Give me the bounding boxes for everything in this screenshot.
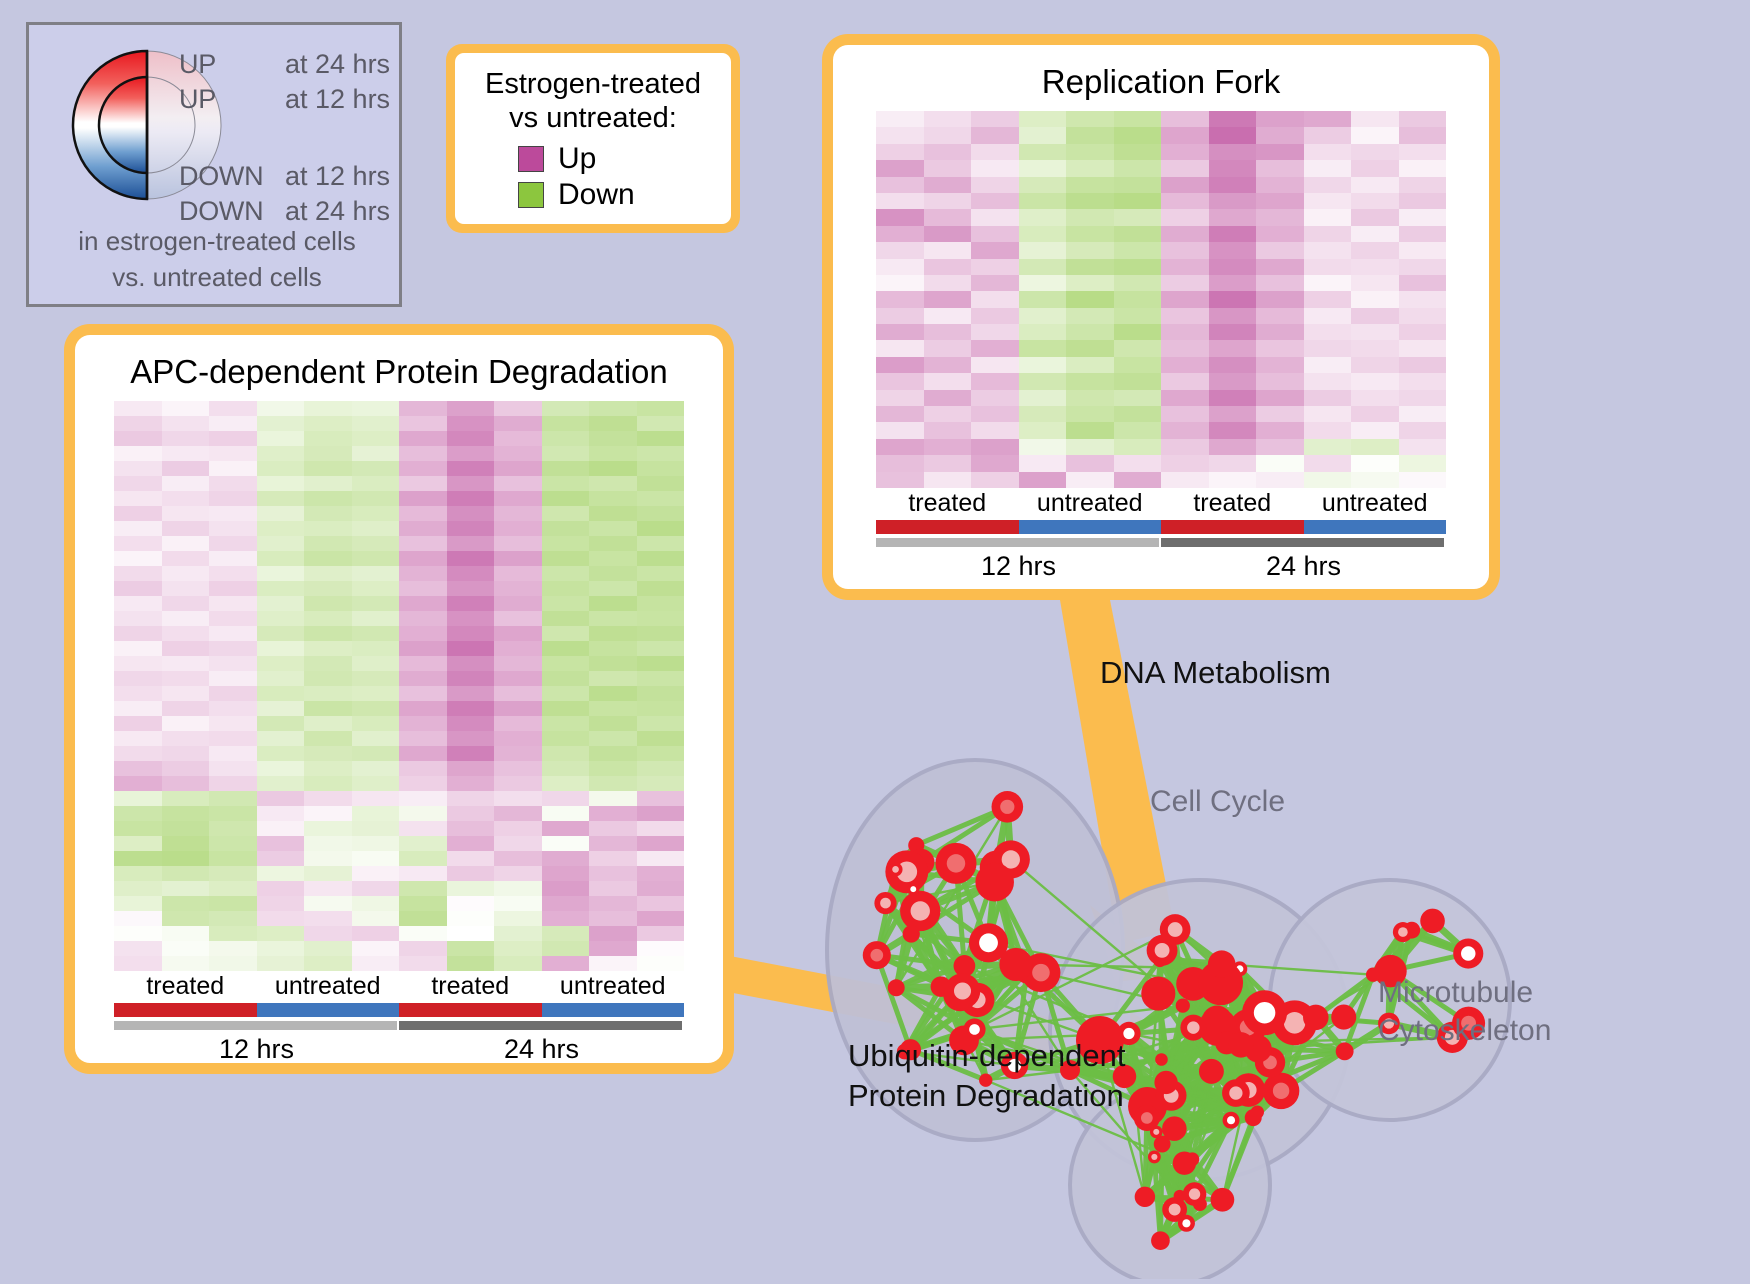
heatmap-cell (114, 881, 162, 896)
heatmap-cell (352, 551, 400, 566)
heatmap-cell (257, 581, 305, 596)
heatmap-cell (494, 926, 542, 941)
heatmap-cell (114, 446, 162, 461)
heatmap-cell (494, 716, 542, 731)
heatmap-cell (1114, 373, 1162, 389)
network-node-core (1000, 800, 1014, 814)
heatmap-cell (1304, 455, 1352, 471)
heatmap-cell (971, 160, 1019, 176)
heatmap-cell (352, 641, 400, 656)
heatmap-cell (114, 956, 162, 971)
heatmap-cell (447, 596, 495, 611)
heatmap-cell (637, 581, 685, 596)
heatmap-cell (1066, 308, 1114, 324)
heatmap-cell (1399, 422, 1447, 438)
heatmap-cell (1161, 259, 1209, 275)
heatmap-cell (304, 491, 352, 506)
heatmap-cell (1161, 291, 1209, 307)
heatmap-cell (304, 881, 352, 896)
network-node-core (969, 1024, 980, 1035)
heatmap-cell (876, 209, 924, 225)
time-label: 12 hrs (114, 1030, 399, 1068)
heatmap-cell (637, 431, 685, 446)
heatmap-cell (1399, 259, 1447, 275)
network-node (1228, 1032, 1254, 1058)
heatmap-cell (1114, 226, 1162, 242)
heatmap-cell (447, 941, 495, 956)
heatmap-cell (1209, 226, 1257, 242)
heatmap-cell (1256, 340, 1304, 356)
heatmap-cell (257, 551, 305, 566)
heatmap-cell (1209, 275, 1257, 291)
heatmap-cell (494, 731, 542, 746)
heatmap-cell (257, 746, 305, 761)
heatmap-cell (304, 671, 352, 686)
heatmap-cell (209, 746, 257, 761)
heatmap-cell (494, 566, 542, 581)
heatmap-cell (1399, 373, 1447, 389)
heatmap-cell (1256, 324, 1304, 340)
heatmap-cell (589, 431, 637, 446)
heatmap-cell (162, 671, 210, 686)
heatmap-cell (257, 431, 305, 446)
time-bar (876, 538, 1159, 547)
heatmap-cell (209, 926, 257, 941)
heatmap-cell (1161, 422, 1209, 438)
heatmap-cell (876, 308, 924, 324)
heatmap-cell (924, 422, 972, 438)
heatmap-cell (114, 671, 162, 686)
heatmap-cell (162, 416, 210, 431)
heatmap-cell (1161, 177, 1209, 193)
heatmap-cell (1304, 242, 1352, 258)
heatmap-cell (494, 671, 542, 686)
heatmap-cell (1114, 472, 1162, 488)
heatmap-cell (257, 641, 305, 656)
heatmap-cell (352, 716, 400, 731)
heatmap-cell (637, 551, 685, 566)
condition-label: treated (114, 971, 257, 1001)
heatmap-cell (1114, 324, 1162, 340)
heatmap-cell (399, 461, 447, 476)
heatmap-cell (162, 941, 210, 956)
heatmap-cell (162, 851, 210, 866)
network-node (1176, 998, 1190, 1012)
heatmap-cell (257, 521, 305, 536)
heatmap-cell (304, 551, 352, 566)
heatmap-cell (1304, 406, 1352, 422)
heatmap-cell (494, 686, 542, 701)
heatmap-cell (162, 746, 210, 761)
heatmap-cell (876, 275, 924, 291)
heatmap-cell (399, 686, 447, 701)
heatmap-cell (494, 776, 542, 791)
heatmap-cell (637, 521, 685, 536)
heatmap-cell (637, 866, 685, 881)
heatmap-cell (924, 259, 972, 275)
heatmap-cell (399, 851, 447, 866)
heatmap-cell (971, 193, 1019, 209)
heatmap-cell (1399, 177, 1447, 193)
heatmap-cell (589, 416, 637, 431)
heatmap-cell (209, 866, 257, 881)
heatmap-cell (352, 521, 400, 536)
heatmap-cell (162, 731, 210, 746)
heatmap-cell (542, 656, 590, 671)
time-bar (399, 1021, 682, 1030)
heatmap-cell (637, 911, 685, 926)
heatmap-cell (589, 926, 637, 941)
heatmap-cell (1351, 209, 1399, 225)
heatmap-block-apc: treateduntreatedtreateduntreated 12 hrs2… (114, 401, 684, 1068)
heatmap-cell (352, 791, 400, 806)
heatmap-cell (1256, 177, 1304, 193)
heatmap-cell (637, 791, 685, 806)
heatmap-cell (209, 401, 257, 416)
heatmap-cell (1399, 472, 1447, 488)
heatmap-cell (1114, 439, 1162, 455)
heatmap-cell (1256, 275, 1304, 291)
heatmap-cell (1351, 390, 1399, 406)
heatmap-cell (114, 461, 162, 476)
condition-bar-untreated (1304, 520, 1447, 534)
heatmap-cell (399, 836, 447, 851)
heatmap-cell (209, 851, 257, 866)
heatmap-block-replication: treateduntreatedtreateduntreated 12 hrs2… (876, 111, 1446, 585)
heatmap-cell (162, 491, 210, 506)
heatmap-cell (352, 806, 400, 821)
heatmap-cell (876, 259, 924, 275)
heatmap-cell (1399, 324, 1447, 340)
heatmap-cell (304, 536, 352, 551)
network-node (903, 925, 920, 942)
heatmap-cell (589, 401, 637, 416)
heatmap-cell (304, 521, 352, 536)
heatmap-cell (162, 641, 210, 656)
heatmap-cell (924, 226, 972, 242)
heatmap-cell (876, 455, 924, 471)
heatmap-cell (352, 911, 400, 926)
heatmap-cell (637, 926, 685, 941)
heatmap-cell (1019, 324, 1067, 340)
heatmap-cell (162, 926, 210, 941)
heatmap-cell (447, 776, 495, 791)
heatmap-cell (447, 791, 495, 806)
heatmap-cell (924, 472, 972, 488)
condition-label: treated (876, 488, 1019, 518)
heatmap-cell (399, 611, 447, 626)
heatmap-cell (971, 291, 1019, 307)
condition-label: untreated (542, 971, 685, 1001)
heatmap-cell (637, 776, 685, 791)
heatmap-cell (1161, 357, 1209, 373)
heatmap-cell (494, 821, 542, 836)
heatmap-cell (304, 431, 352, 446)
heatmap-cell (1399, 111, 1447, 127)
network-svg (770, 600, 1750, 1279)
heatmap-cell (589, 476, 637, 491)
heatmap-cell (1161, 439, 1209, 455)
heatmap-cell (209, 896, 257, 911)
heatmap-cell (589, 896, 637, 911)
heatmap-cell (447, 521, 495, 536)
heatmap-cell (399, 731, 447, 746)
heatmap-cell (589, 761, 637, 776)
heatmap-cell (114, 821, 162, 836)
heatmap-cell (542, 761, 590, 776)
heatmap-cell (1066, 160, 1114, 176)
heatmap-cell (637, 401, 685, 416)
condition-bars-apc (114, 1003, 684, 1017)
heatmap-cell (114, 416, 162, 431)
heatmap-cell (352, 476, 400, 491)
heatmap-cell (114, 761, 162, 776)
network-node-core (1254, 1002, 1276, 1024)
heatmap-cell (1066, 111, 1114, 127)
heatmap-cell (1351, 177, 1399, 193)
heatmap-cell (1256, 455, 1304, 471)
network-node-core (892, 866, 899, 873)
heatmap-cell (589, 506, 637, 521)
heatmap-cell (209, 821, 257, 836)
heatmap-cell (1114, 422, 1162, 438)
network-node-core (1151, 1154, 1157, 1160)
heatmap-cell (542, 956, 590, 971)
network-node-core (1032, 964, 1050, 982)
heatmap-cell (162, 911, 210, 926)
heatmap-cell (494, 506, 542, 521)
network-node-core (1141, 1112, 1153, 1124)
heatmap-cell (257, 791, 305, 806)
heatmap-cell (304, 596, 352, 611)
heatmap-cell (1209, 406, 1257, 422)
heatmap-cell (1256, 308, 1304, 324)
heatmap-cell (304, 641, 352, 656)
heatmap-cell (1019, 439, 1067, 455)
heatmap-cell (1019, 406, 1067, 422)
panel-apc-degradation: APC-dependent Protein Degradation treate… (64, 324, 734, 1074)
heatmap-cell (257, 611, 305, 626)
heatmap-cell (494, 446, 542, 461)
heatmap-cell (494, 611, 542, 626)
heatmap-cell (1066, 357, 1114, 373)
heatmap-cell (637, 881, 685, 896)
heatmap-cell (1256, 406, 1304, 422)
heatmap-cell (1304, 193, 1352, 209)
heatmap-cell (209, 566, 257, 581)
heatmap-cell (637, 731, 685, 746)
panel-apc-inner: APC-dependent Protein Degradation treate… (75, 335, 723, 1063)
time-labels-replication: 12 hrs24 hrs (876, 547, 1446, 585)
heatmap-cell (1161, 209, 1209, 225)
heatmap-cell (447, 806, 495, 821)
heatmap-cell (1019, 340, 1067, 356)
heatmap-cell (399, 416, 447, 431)
heatmap-cell (352, 701, 400, 716)
heatmap-cell (1209, 177, 1257, 193)
heatmap-cell (162, 701, 210, 716)
heatmap-cell (399, 431, 447, 446)
heatmap-cell (1399, 209, 1447, 225)
pathway-network-diagram: DNA Metabolism Cell Cycle Microtubule Cy… (770, 600, 1750, 1279)
heatmap-cell (399, 776, 447, 791)
heatmap-cell (1066, 226, 1114, 242)
network-node-core (1189, 1188, 1200, 1199)
heatmap-cell (447, 431, 495, 446)
network-node-core (954, 982, 971, 999)
heatmap-cell (589, 956, 637, 971)
heatmap-cell (876, 357, 924, 373)
heatmap-cell (1066, 422, 1114, 438)
heatmap-cell (114, 566, 162, 581)
network-node-core (947, 854, 965, 872)
heatmap-cell (589, 641, 637, 656)
heatmap-cell (257, 416, 305, 431)
heatmap-cell (257, 716, 305, 731)
heatmap-cell (304, 446, 352, 461)
heatmap-cell (542, 866, 590, 881)
heatmap-cell (1161, 160, 1209, 176)
heatmap-cell (447, 656, 495, 671)
heatmap-cell (1209, 242, 1257, 258)
heatmap-cell (971, 177, 1019, 193)
heatmap-cell (304, 746, 352, 761)
heatmap-cell (637, 701, 685, 716)
heatmap-cell (589, 671, 637, 686)
heatmap-cell (494, 476, 542, 491)
heatmap-cell (352, 416, 400, 431)
heatmap-cell (589, 866, 637, 881)
heatmap-cell (1351, 259, 1399, 275)
heatmap-cell (637, 686, 685, 701)
time-bar (1161, 538, 1444, 547)
heatmap-cell (637, 806, 685, 821)
heatmap-cell (447, 866, 495, 881)
heatmap-cell (494, 941, 542, 956)
network-node-core (1187, 1021, 1199, 1033)
heatmap-cell (589, 821, 637, 836)
panel-title-apc-degradation: APC-dependent Protein Degradation (130, 353, 668, 391)
heatmap-cell (542, 911, 590, 926)
heatmap-cell (209, 671, 257, 686)
heatmap-cell (257, 956, 305, 971)
heatmap-cell (1209, 160, 1257, 176)
heatmap-cell (1114, 390, 1162, 406)
heatmap-cell (494, 761, 542, 776)
heatmap-cell (1019, 275, 1067, 291)
heatmap-cell (209, 806, 257, 821)
heatmap-cell (1161, 226, 1209, 242)
heatmap-cell (494, 596, 542, 611)
heatmap-cell (399, 701, 447, 716)
heatmap-cell (1066, 193, 1114, 209)
heatmap-cell (1399, 275, 1447, 291)
heatmap-cell (1256, 160, 1304, 176)
heatmap-cell (876, 340, 924, 356)
heatmap-cell (1351, 291, 1399, 307)
heatmap-cell (209, 491, 257, 506)
heatmap-cell (1114, 127, 1162, 143)
heatmap-cell (1066, 340, 1114, 356)
heatmap-cell (494, 791, 542, 806)
heatmap-cell (1019, 291, 1067, 307)
heatmap-cell (971, 422, 1019, 438)
heatmap-cell (1304, 209, 1352, 225)
heatmap-cell (1066, 472, 1114, 488)
heatmap-cell (1399, 357, 1447, 373)
heatmap-cell (352, 851, 400, 866)
heatmap-cell (637, 656, 685, 671)
heatmap-cell (924, 242, 972, 258)
network-node-core (1229, 1086, 1242, 1099)
heatmap-cell (1209, 259, 1257, 275)
heatmap-cell (542, 506, 590, 521)
heatmap-cell (257, 881, 305, 896)
heatmap-cell (971, 340, 1019, 356)
heatmap-cell (399, 806, 447, 821)
heatmap-cell (162, 791, 210, 806)
heatmap-cell (1256, 472, 1304, 488)
heatmap-cell (257, 686, 305, 701)
heatmap-cell (114, 731, 162, 746)
heatmap-cell (304, 626, 352, 641)
heatmap-cell (971, 472, 1019, 488)
heatmap-cell (971, 242, 1019, 258)
heatmap-cell (447, 911, 495, 926)
heatmap-cell (1161, 472, 1209, 488)
heatmap-cell (447, 461, 495, 476)
heatmap-cell (1114, 291, 1162, 307)
heatmap-cell (352, 536, 400, 551)
heatmap-cell (447, 896, 495, 911)
heatmap-cell (447, 611, 495, 626)
network-node (1173, 1151, 1196, 1174)
condition-bar-untreated (257, 1003, 400, 1017)
heatmap-cell (1304, 340, 1352, 356)
heatmap-cell (257, 401, 305, 416)
heatmap-cell (304, 731, 352, 746)
heatmap-cell (589, 716, 637, 731)
heatmap-cell (542, 821, 590, 836)
heatmap-cell (304, 956, 352, 971)
heatmap-cell (114, 656, 162, 671)
network-node (1151, 1231, 1170, 1250)
heatmap-cell (1019, 160, 1067, 176)
heatmap-cell (494, 551, 542, 566)
heatmap-cell (876, 177, 924, 193)
heatmap-cell (1019, 226, 1067, 242)
heatmap-cell (637, 446, 685, 461)
heatmap-cell (542, 776, 590, 791)
heatmap-cell (1351, 127, 1399, 143)
heatmap-cell (494, 881, 542, 896)
heatmap-cell (1256, 209, 1304, 225)
heatmap-cell (971, 324, 1019, 340)
heatmap-cell (257, 506, 305, 521)
heatmap-cell (399, 446, 447, 461)
heatmap-cell (1304, 127, 1352, 143)
heatmap-cell (1304, 472, 1352, 488)
heatmap-cell (399, 521, 447, 536)
heatmap-cell (257, 851, 305, 866)
heatmap-cell (114, 851, 162, 866)
network-node-core (1182, 1219, 1190, 1227)
heatmap-cell (542, 431, 590, 446)
heatmap-cell (1209, 127, 1257, 143)
heatmap-cell (399, 671, 447, 686)
condition-label: treated (399, 971, 542, 1001)
heatmap-cell (589, 836, 637, 851)
